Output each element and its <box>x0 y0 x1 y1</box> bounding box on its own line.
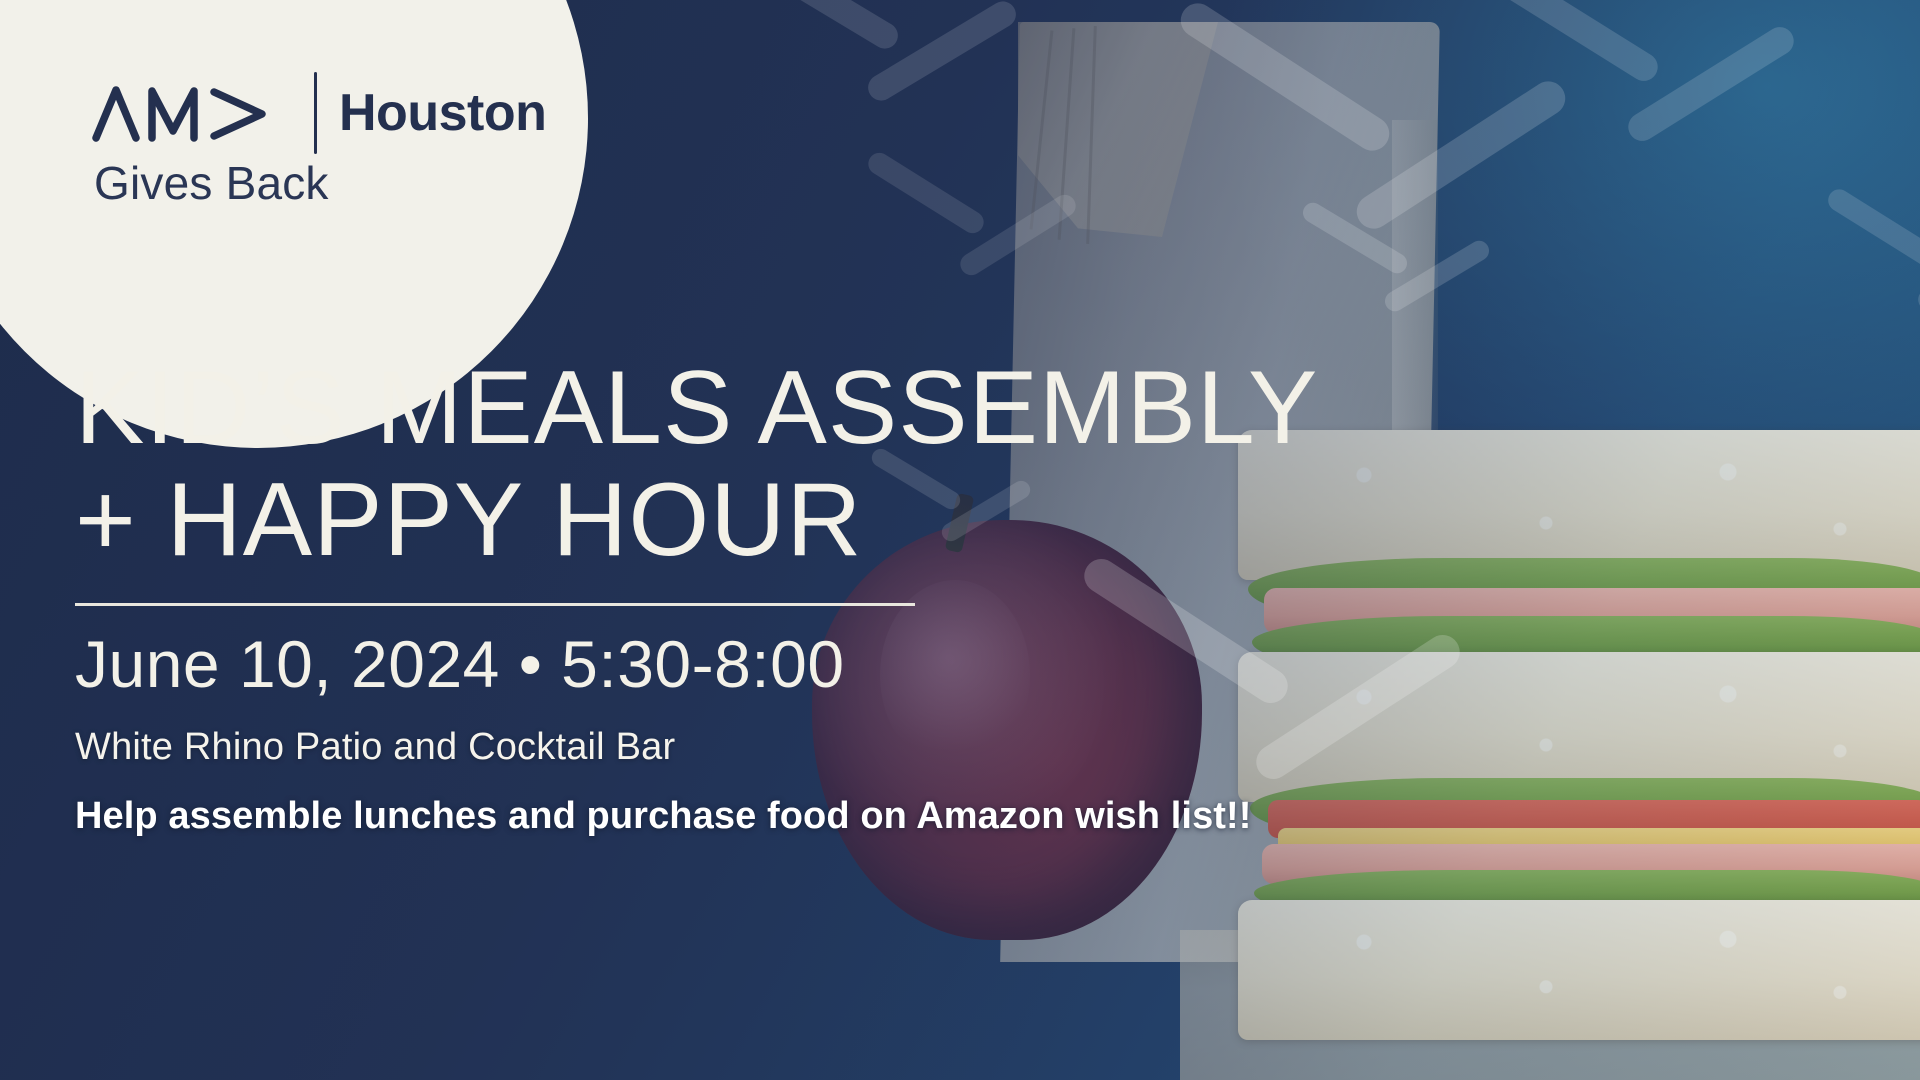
event-venue: White Rhino Patio and Cocktail Bar <box>75 726 1475 769</box>
flyer-content: KID’S MEALS ASSEMBLY + HAPPY HOUR June 1… <box>75 352 1475 838</box>
logo-divider <box>314 72 317 154</box>
page-title: KID’S MEALS ASSEMBLY + HAPPY HOUR <box>75 352 1475 577</box>
event-flyer: Houston Gives Back KID’S MEALS ASSEMBLY … <box>0 0 1920 1080</box>
logo-primary-row: Houston <box>92 72 546 154</box>
logo-chapter-name: Houston <box>339 87 546 139</box>
divider-rule <box>75 603 915 606</box>
event-date-time: June 10, 2024 • 5:30-8:00 <box>75 628 1475 701</box>
event-call-to-action: Help assemble lunches and purchase food … <box>75 795 1475 838</box>
headline-line-2: + HAPPY HOUR <box>75 464 1475 576</box>
logo-tagline: Gives Back <box>94 160 546 206</box>
ama-houston-logo: Houston Gives Back <box>92 72 546 206</box>
headline-line-1: KID’S MEALS ASSEMBLY <box>75 350 1318 466</box>
ama-chevron-logomark-icon <box>92 84 292 142</box>
